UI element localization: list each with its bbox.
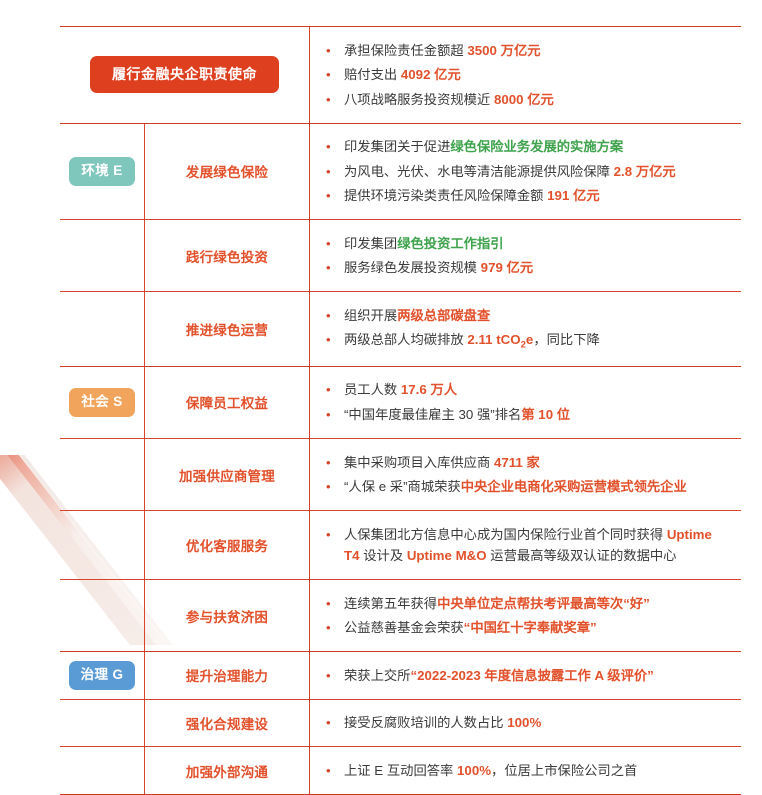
details-cell: •组织开展两级总部碳盘查•两级总部人均碳排放 2.11 tCO2e，同比下降 bbox=[310, 292, 741, 366]
topic-cell: 优化客服服务 bbox=[145, 511, 310, 579]
bullet-text: 两级总部人均碳排放 2.11 tCO2e，同比下降 bbox=[344, 329, 731, 353]
pillar-cell-continuation bbox=[60, 439, 145, 510]
bullet-dot-icon: • bbox=[326, 64, 344, 85]
inline-text: “中国年度最佳雇主 30 强”排名 bbox=[344, 407, 521, 422]
bullet-text: 八项战略服务投资规模近 8000 亿元 bbox=[344, 89, 731, 111]
table-row: 社会 S保障员工权益•员工人数 17.6 万人•“中国年度最佳雇主 30 强”排… bbox=[60, 367, 741, 439]
bullet-text: 赔付支出 4092 亿元 bbox=[344, 64, 731, 86]
table-row: 加强外部沟通•上证 E 互动回答率 100%，位居上市保险公司之首 bbox=[60, 747, 741, 794]
bullet-item: •接受反腐败培训的人数占比 100% bbox=[326, 711, 731, 736]
inline-text: 印发集团 bbox=[344, 236, 397, 251]
details-cell: •印发集团关于促进绿色保险业务发展的实施方案•为风电、光伏、水电等清洁能源提供风… bbox=[310, 124, 741, 220]
inline-highlight-red: 3500 万亿元 bbox=[467, 43, 540, 58]
details-cell: •承担保险责任金额超 3500 万亿元•赔付支出 4092 亿元•八项战略服务投… bbox=[310, 27, 741, 123]
inline-text: 人保集团北方信息中心成为国内保险行业首个同时获得 bbox=[344, 527, 667, 542]
inline-highlight-red: 中央企业电商化采购运营模式领先企业 bbox=[461, 479, 687, 494]
topic-cell: 参与扶贫济困 bbox=[145, 580, 310, 651]
inline-text: 为风电、光伏、水电等清洁能源提供风险保障 bbox=[344, 164, 614, 179]
details-cell: •接受反腐败培训的人数占比 100% bbox=[310, 700, 741, 747]
topic-cell: 提升治理能力 bbox=[145, 652, 310, 699]
inline-text: 荣获上交所 bbox=[344, 668, 410, 683]
bullet-dot-icon: • bbox=[326, 452, 344, 473]
table-row: 强化合规建设•接受反腐败培训的人数占比 100% bbox=[60, 700, 741, 748]
bullet-item: •印发集团关于促进绿色保险业务发展的实施方案 bbox=[326, 135, 731, 160]
inline-text: 接受反腐败培训的人数占比 bbox=[344, 715, 507, 730]
pillar-cell-continuation bbox=[60, 220, 145, 291]
inline-highlight-green: 绿色保险业务发展的实施方案 bbox=[450, 139, 623, 154]
bullet-item: •上证 E 互动回答率 100%，位居上市保险公司之首 bbox=[326, 758, 731, 783]
bullet-text: 印发集团关于促进绿色保险业务发展的实施方案 bbox=[344, 136, 731, 158]
bullet-dot-icon: • bbox=[326, 712, 344, 733]
bullet-item: •为风电、光伏、水电等清洁能源提供风险保障 2.8 万亿元 bbox=[326, 159, 731, 184]
bullet-dot-icon: • bbox=[326, 136, 344, 157]
bullet-dot-icon: • bbox=[326, 161, 344, 182]
bullet-dot-icon: • bbox=[326, 524, 344, 545]
topic-cell: 加强外部沟通 bbox=[145, 747, 310, 794]
inline-highlight-red: 100% bbox=[457, 763, 491, 778]
pillar-cell-continuation bbox=[60, 747, 145, 794]
inline-highlight-red: 100% bbox=[507, 715, 541, 730]
pillar-cell-continuation bbox=[60, 511, 145, 579]
bullet-text: 上证 E 互动回答率 100%，位居上市保险公司之首 bbox=[344, 760, 731, 782]
table-row: 履行金融央企职责使命•承担保险责任金额超 3500 万亿元•赔付支出 4092 … bbox=[60, 27, 741, 124]
pillar-cell-continuation bbox=[60, 292, 145, 366]
pillar-badge-social[interactable]: 社会 S bbox=[69, 388, 134, 417]
inline-text: 赔付支出 bbox=[344, 67, 401, 82]
inline-highlight-red: 中央单位定点帮扶考评最高等次“好” bbox=[437, 596, 650, 611]
topic-cell: 推进绿色运营 bbox=[145, 292, 310, 366]
bullet-dot-icon: • bbox=[326, 89, 344, 110]
inline-highlight-red: 17.6 万人 bbox=[401, 382, 457, 397]
table-row: 治理 G提升治理能力•荣获上交所“2022-2023 年度信息披露工作 A 级评… bbox=[60, 652, 741, 700]
esg-highlights-table: 履行金融央企职责使命•承担保险责任金额超 3500 万亿元•赔付支出 4092 … bbox=[60, 26, 741, 795]
bullet-dot-icon: • bbox=[326, 379, 344, 400]
bullet-text: 组织开展两级总部碳盘查 bbox=[344, 305, 731, 327]
bullet-item: •印发集团绿色投资工作指引 bbox=[326, 231, 731, 256]
bullet-text: 接受反腐败培训的人数占比 100% bbox=[344, 712, 731, 734]
bullet-dot-icon: • bbox=[326, 233, 344, 254]
bullet-item: •承担保险责任金额超 3500 万亿元 bbox=[326, 38, 731, 63]
inline-highlight-red: 2.8 万亿元 bbox=[614, 164, 676, 179]
bullet-text: 员工人数 17.6 万人 bbox=[344, 379, 731, 401]
bullet-text: 印发集团绿色投资工作指引 bbox=[344, 233, 731, 255]
bullet-text: 荣获上交所“2022-2023 年度信息披露工作 A 级评价” bbox=[344, 665, 731, 687]
bullet-item: •服务绿色发展投资规模 979 亿元 bbox=[326, 256, 731, 281]
details-cell: •印发集团绿色投资工作指引•服务绿色发展投资规模 979 亿元 bbox=[310, 220, 741, 291]
bullet-item: •荣获上交所“2022-2023 年度信息披露工作 A 级评价” bbox=[326, 663, 731, 688]
bullet-text: 承担保险责任金额超 3500 万亿元 bbox=[344, 40, 731, 62]
pillar-cell: 环境 E bbox=[60, 124, 145, 220]
bullet-dot-icon: • bbox=[326, 665, 344, 686]
bullet-text: “人保 e 采”商城荣获中央企业电商化采购运营模式领先企业 bbox=[344, 476, 731, 498]
bullet-dot-icon: • bbox=[326, 617, 344, 638]
bullet-item: •组织开展两级总部碳盘查 bbox=[326, 303, 731, 328]
bullet-item: •“人保 e 采”商城荣获中央企业电商化采购运营模式领先企业 bbox=[326, 475, 731, 500]
topic-cell: 践行绿色投资 bbox=[145, 220, 310, 291]
bullet-item: •连续第五年获得中央单位定点帮扶考评最高等次“好” bbox=[326, 591, 731, 616]
bullet-item: •提供环境污染类责任风险保障金额 191 亿元 bbox=[326, 184, 731, 209]
bullet-item: •集中采购项目入库供应商 4711 家 bbox=[326, 450, 731, 475]
table-row: 环境 E发展绿色保险•印发集团关于促进绿色保险业务发展的实施方案•为风电、光伏、… bbox=[60, 124, 741, 221]
pillar-badge-governance[interactable]: 治理 G bbox=[69, 661, 136, 690]
bullet-item: •赔付支出 4092 亿元 bbox=[326, 63, 731, 88]
bullet-dot-icon: • bbox=[326, 305, 344, 326]
inline-highlight-green: 绿色投资工作指引 bbox=[397, 236, 503, 251]
bullet-item: •“中国年度最佳雇主 30 强”排名第 10 位 bbox=[326, 402, 731, 427]
pillar-cell-continuation bbox=[60, 580, 145, 651]
inline-text: 服务绿色发展投资规模 bbox=[344, 260, 481, 275]
inline-highlight-red: 4092 亿元 bbox=[401, 67, 461, 82]
details-cell: •荣获上交所“2022-2023 年度信息披露工作 A 级评价” bbox=[310, 652, 741, 699]
table-row: 践行绿色投资•印发集团绿色投资工作指引•服务绿色发展投资规模 979 亿元 bbox=[60, 220, 741, 292]
bullet-dot-icon: • bbox=[326, 404, 344, 425]
bullet-item: •两级总部人均碳排放 2.11 tCO2e，同比下降 bbox=[326, 328, 731, 355]
bullet-dot-icon: • bbox=[326, 257, 344, 278]
inline-text: “人保 e 采”商城荣获 bbox=[344, 479, 461, 494]
inline-text: 上证 E 互动回答率 bbox=[344, 763, 457, 778]
bullet-item: •公益慈善基金会荣获“中国红十字奉献奖章” bbox=[326, 616, 731, 641]
inline-text: 设计及 bbox=[360, 548, 407, 563]
bullet-dot-icon: • bbox=[326, 329, 344, 350]
details-cell: •集中采购项目入库供应商 4711 家•“人保 e 采”商城荣获中央企业电商化采… bbox=[310, 439, 741, 510]
details-cell: •连续第五年获得中央单位定点帮扶考评最高等次“好”•公益慈善基金会荣获“中国红十… bbox=[310, 580, 741, 651]
pillar-cell: 治理 G bbox=[60, 652, 145, 699]
pillar-badge-environment[interactable]: 环境 E bbox=[69, 157, 134, 186]
topic-cell: 加强供应商管理 bbox=[145, 439, 310, 510]
bullet-item: •人保集团北方信息中心成为国内保险行业首个同时获得 Uptime T4 设计及 … bbox=[326, 522, 731, 568]
bullet-dot-icon: • bbox=[326, 40, 344, 61]
bullet-text: 服务绿色发展投资规模 979 亿元 bbox=[344, 257, 731, 279]
bullet-item: •八项战略服务投资规模近 8000 亿元 bbox=[326, 87, 731, 112]
bullet-text: 公益慈善基金会荣获“中国红十字奉献奖章” bbox=[344, 617, 731, 639]
bullet-dot-icon: • bbox=[326, 476, 344, 497]
inline-text: 连续第五年获得 bbox=[344, 596, 437, 611]
details-cell: •人保集团北方信息中心成为国内保险行业首个同时获得 Uptime T4 设计及 … bbox=[310, 511, 741, 579]
bullet-text: 集中采购项目入库供应商 4711 家 bbox=[344, 452, 731, 474]
mission-banner-cell: 履行金融央企职责使命 bbox=[60, 27, 310, 123]
bullet-text: 为风电、光伏、水电等清洁能源提供风险保障 2.8 万亿元 bbox=[344, 161, 731, 183]
topic-cell: 保障员工权益 bbox=[145, 367, 310, 438]
inline-text: 两级总部人均碳排放 bbox=[344, 332, 467, 347]
inline-highlight-red: 8000 亿元 bbox=[494, 92, 554, 107]
inline-text: 八项战略服务投资规模近 bbox=[344, 92, 494, 107]
inline-text: 提供环境污染类责任风险保障金额 bbox=[344, 188, 547, 203]
bullet-text: 人保集团北方信息中心成为国内保险行业首个同时获得 Uptime T4 设计及 U… bbox=[344, 524, 731, 567]
bullet-item: •员工人数 17.6 万人 bbox=[326, 378, 731, 403]
bullet-dot-icon: • bbox=[326, 760, 344, 781]
inline-text: ，位居上市保险公司之首 bbox=[491, 763, 637, 778]
inline-text: 运营最高等级双认证的数据中心 bbox=[487, 548, 677, 563]
inline-highlight-red: 2.11 tCO bbox=[467, 332, 520, 347]
inline-highlight-red: 第 10 位 bbox=[521, 407, 570, 422]
table-row: 加强供应商管理•集中采购项目入库供应商 4711 家•“人保 e 采”商城荣获中… bbox=[60, 439, 741, 511]
pillar-cell-continuation bbox=[60, 700, 145, 747]
bullet-text: 提供环境污染类责任风险保障金额 191 亿元 bbox=[344, 185, 731, 207]
topic-cell: 发展绿色保险 bbox=[145, 124, 310, 220]
bullet-text: “中国年度最佳雇主 30 强”排名第 10 位 bbox=[344, 404, 731, 426]
bullet-dot-icon: • bbox=[326, 593, 344, 614]
table-row: 推进绿色运营•组织开展两级总部碳盘查•两级总部人均碳排放 2.11 tCO2e，… bbox=[60, 292, 741, 367]
table-row: 参与扶贫济困•连续第五年获得中央单位定点帮扶考评最高等次“好”•公益慈善基金会荣… bbox=[60, 580, 741, 652]
inline-highlight-red: 两级总部碳盘查 bbox=[397, 308, 490, 323]
inline-text: 印发集团关于促进 bbox=[344, 139, 450, 154]
inline-text: 集中采购项目入库供应商 bbox=[344, 455, 494, 470]
inline-text: ，同比下降 bbox=[533, 332, 599, 347]
details-cell: •上证 E 互动回答率 100%，位居上市保险公司之首 bbox=[310, 747, 741, 794]
pillar-cell: 社会 S bbox=[60, 367, 145, 438]
inline-highlight-red: “2022-2023 年度信息披露工作 A 级评价” bbox=[410, 668, 653, 683]
bullet-dot-icon: • bbox=[326, 185, 344, 206]
mission-banner-pill[interactable]: 履行金融央企职责使命 bbox=[90, 56, 279, 93]
inline-highlight-red: 979 亿元 bbox=[481, 260, 533, 275]
topic-cell: 强化合规建设 bbox=[145, 700, 310, 747]
inline-text: 员工人数 bbox=[344, 382, 401, 397]
inline-text: 组织开展 bbox=[344, 308, 397, 323]
inline-text: 承担保险责任金额超 bbox=[344, 43, 467, 58]
table-row: 优化客服服务•人保集团北方信息中心成为国内保险行业首个同时获得 Uptime T… bbox=[60, 511, 741, 580]
inline-highlight-red: 4711 家 bbox=[494, 455, 540, 470]
bullet-text: 连续第五年获得中央单位定点帮扶考评最高等次“好” bbox=[344, 593, 731, 615]
details-cell: •员工人数 17.6 万人•“中国年度最佳雇主 30 强”排名第 10 位 bbox=[310, 367, 741, 438]
inline-highlight-red: Uptime M&O bbox=[407, 548, 487, 563]
inline-highlight-red: 191 亿元 bbox=[547, 188, 599, 203]
